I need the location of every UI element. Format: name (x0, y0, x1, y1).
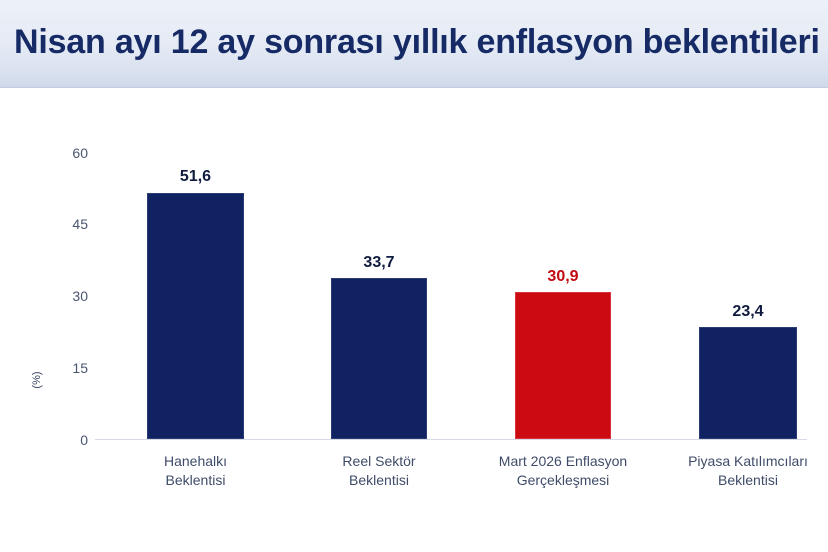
x-axis-category-3-line-2: Gerçekleşmesi (481, 471, 645, 490)
y-axis-tick-30: 30 (46, 289, 88, 303)
x-axis-category-4: Piyasa Katılımcıları Beklentisi (668, 452, 828, 490)
bar-mart-2026-enflasyon-gerceklesmesi[interactable] (515, 292, 611, 439)
x-axis-category-1-line-2: Beklentisi (119, 471, 272, 490)
x-axis-category-3: Mart 2026 Enflasyon Gerçekleşmesi (481, 452, 645, 490)
page-title: Nisan ayı 12 ay sonrası yıllık enflasyon… (14, 20, 814, 64)
header-band: Nisan ayı 12 ay sonrası yıllık enflasyon… (0, 0, 828, 88)
x-axis-category-3-line-1: Mart 2026 Enflasyon (481, 452, 645, 471)
x-axis-category-1: Hanehalkı Beklentisi (119, 452, 272, 490)
y-axis-tick-15: 15 (46, 361, 88, 375)
y-axis-tick-0: 0 (46, 433, 88, 447)
x-axis-category-2: Reel Sektör Beklentisi (303, 452, 455, 490)
y-axis-tick-60: 60 (46, 146, 88, 160)
x-axis-category-1-line-1: Hanehalkı (119, 452, 272, 471)
bar-chart-plot: (%) 60 45 30 15 0 51,6 Hanehalkı Beklent… (0, 89, 828, 552)
bar-value-label-1: 51,6 (147, 169, 244, 185)
x-axis-category-2-line-1: Reel Sektör (303, 452, 455, 471)
y-axis-tick-45: 45 (46, 217, 88, 231)
bar-value-label-4: 23,4 (699, 304, 797, 320)
x-axis-line (95, 439, 807, 440)
bar-value-label-3: 30,9 (515, 269, 611, 285)
bar-reel-sektor-beklentisi[interactable] (331, 278, 427, 439)
y-axis-title: (%) (31, 367, 43, 393)
x-axis-category-2-line-2: Beklentisi (303, 471, 455, 490)
x-axis-category-4-line-1: Piyasa Katılımcıları (668, 452, 828, 471)
bar-hanehalki-beklentisi[interactable] (147, 193, 244, 439)
bar-value-label-2: 33,7 (331, 255, 427, 271)
x-axis-category-4-line-2: Beklentisi (668, 471, 828, 490)
chart-area: (%) 60 45 30 15 0 51,6 Hanehalkı Beklent… (0, 89, 828, 552)
bar-piyasa-katilimcilari-beklentisi[interactable] (699, 327, 797, 439)
